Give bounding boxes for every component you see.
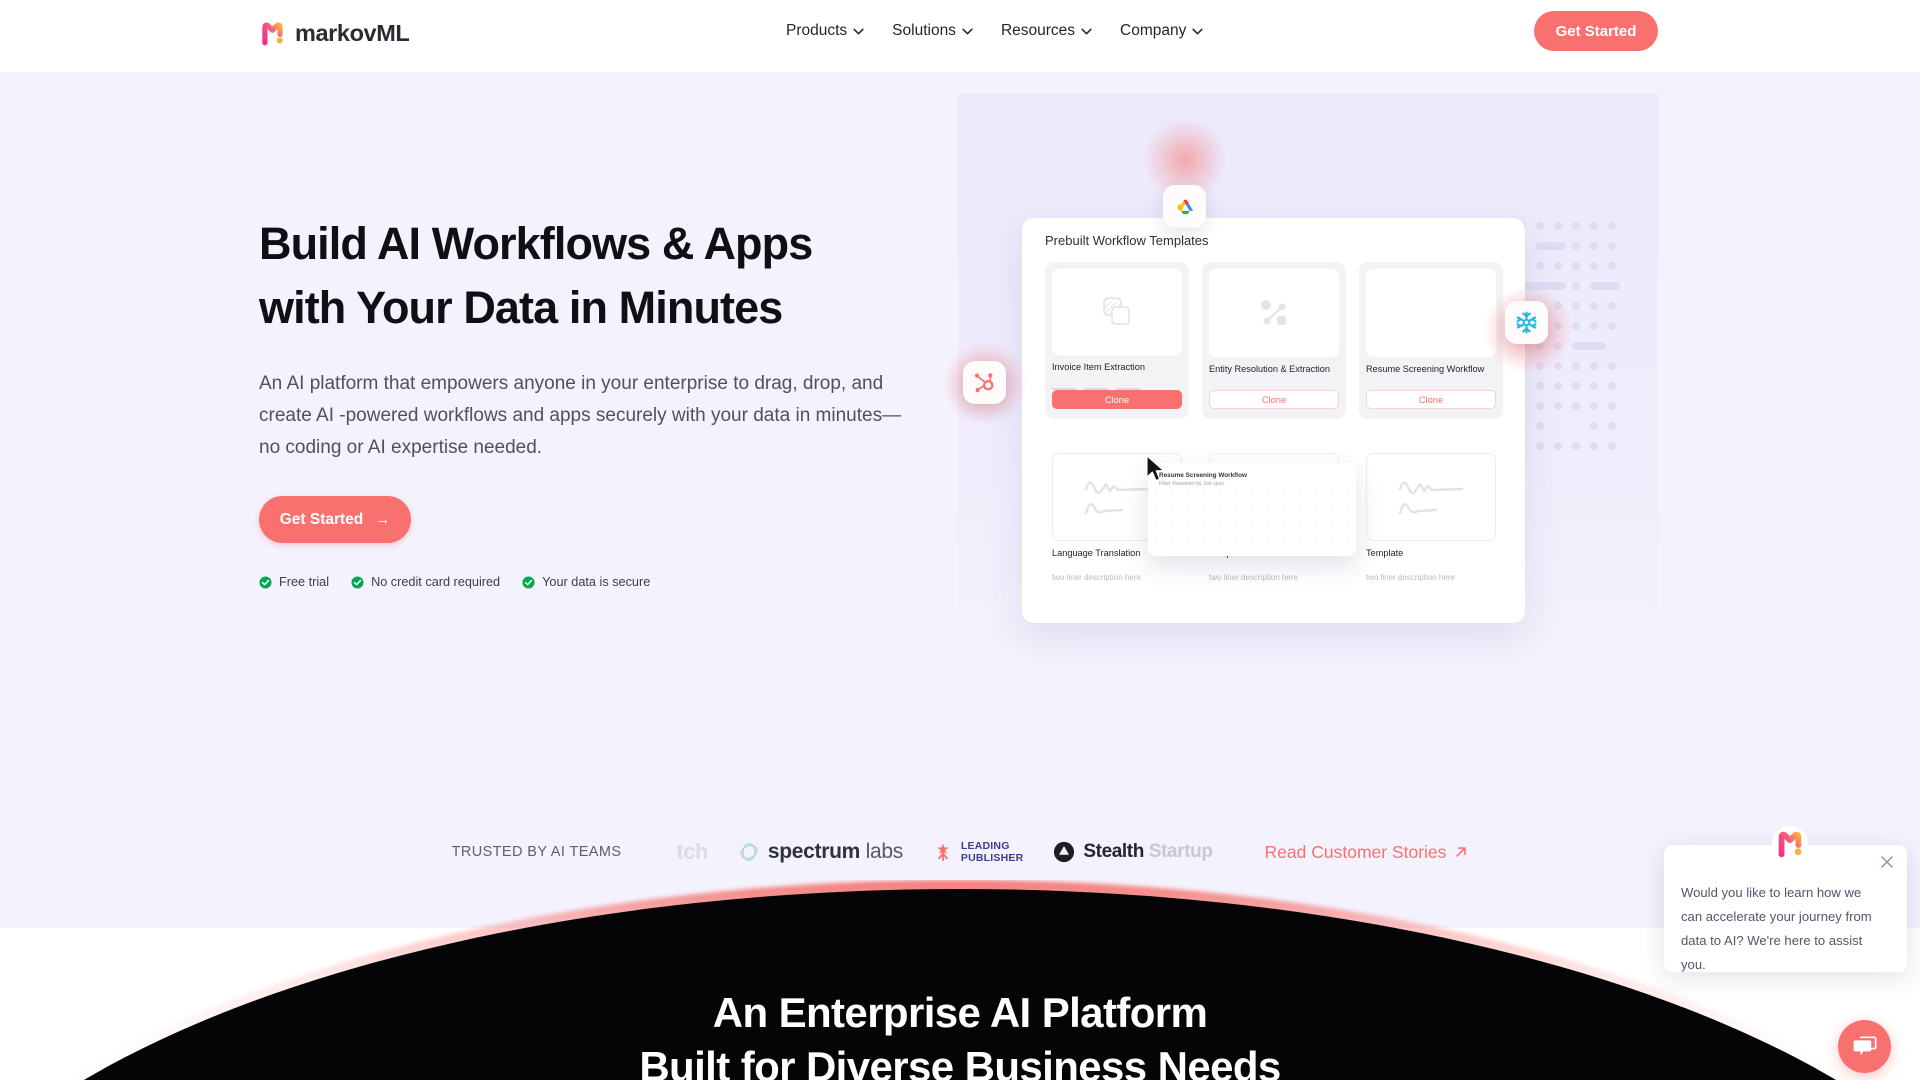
stealth-bold: Stealth xyxy=(1083,841,1144,862)
spectrum-labs-logo: spectrum labs xyxy=(738,840,903,864)
clone-button[interactable]: Clone xyxy=(1052,390,1182,409)
hero-product-artwork: Prebuilt Workflow Templates Invoice Item… xyxy=(958,93,1658,663)
hubspot-icon-chip xyxy=(963,361,1006,404)
template-card[interactable]: Template two liner description here xyxy=(1359,446,1503,603)
nav-item-solutions[interactable]: Solutions xyxy=(892,22,973,40)
brand-name: markovML xyxy=(295,20,409,47)
chevron-down-icon xyxy=(1081,28,1092,35)
page-root: markovML Products Solutions Resources xyxy=(0,0,1920,1080)
resume-workflow-overlay-card: Resume Screening Workflow Filter Resumes… xyxy=(1148,463,1356,556)
google-cloud-icon-chip xyxy=(1163,185,1206,228)
hero-get-started-button[interactable]: Get Started → xyxy=(259,496,411,543)
badge-free-trial: Free trial xyxy=(259,575,329,589)
entity-graph-icon xyxy=(1258,297,1290,329)
chevron-down-icon xyxy=(1192,28,1203,35)
partial-logo: tch xyxy=(676,839,708,865)
stealth-startup-logo: Stealth Startup xyxy=(1053,841,1212,863)
stealth-startup-text: Stealth Startup xyxy=(1083,841,1212,863)
spectrum-light: labs xyxy=(866,840,903,863)
arrow-up-right-icon xyxy=(1454,845,1468,859)
chat-message-text: Would you like to learn how we can accel… xyxy=(1681,881,1879,977)
markovml-logo-icon xyxy=(259,20,286,47)
overlay-card-title: Resume Screening Workflow xyxy=(1159,472,1345,479)
section-title: An Enterprise AI Platform Built for Dive… xyxy=(0,986,1920,1080)
nav-item-company[interactable]: Company xyxy=(1120,22,1203,40)
leading-publisher-logo: LEADINGPUBLISHER xyxy=(933,840,1023,864)
nav-label: Solutions xyxy=(892,22,956,40)
chat-bubble-icon xyxy=(1851,1033,1878,1060)
markovml-avatar-icon xyxy=(1775,829,1805,859)
template-name: Template xyxy=(1366,548,1496,571)
chevron-down-icon xyxy=(853,28,864,35)
hubspot-icon xyxy=(973,371,997,395)
nav-label: Products xyxy=(786,22,847,40)
clone-button[interactable]: Clone xyxy=(1366,390,1496,409)
snowflake-icon xyxy=(1514,310,1539,335)
section-title-line-1: An Enterprise AI Platform xyxy=(713,989,1208,1036)
check-circle-icon xyxy=(351,576,364,589)
panel-title: Prebuilt Workflow Templates xyxy=(1045,233,1209,248)
hero-section: Build AI Workflows & Apps with Your Data… xyxy=(0,72,1920,928)
nav-label: Resources xyxy=(1001,22,1075,40)
star-person-icon xyxy=(933,841,953,863)
sparkline-icon xyxy=(1080,471,1154,523)
template-card[interactable]: Entity Resolution & Extraction Clone xyxy=(1202,262,1346,419)
partial-logo-text: tch xyxy=(676,839,708,865)
main-navigation: Products Solutions Resources Company xyxy=(786,22,1203,40)
template-description: two liner description here xyxy=(1052,573,1182,583)
template-grid-row-1: Invoice Item Extraction Clone xyxy=(1045,262,1503,419)
badge-label: Your data is secure xyxy=(542,575,650,589)
hero-title-line-2: with Your Data in Minutes xyxy=(259,282,782,333)
stealth-light: Startup xyxy=(1149,841,1213,862)
section-title-line-2: Built for Diverse Business Needs xyxy=(639,1043,1280,1080)
workflow-templates-panel: Prebuilt Workflow Templates Invoice Item… xyxy=(1022,218,1525,623)
spectrum-bold: spectrum xyxy=(768,840,860,863)
badge-data-secure: Your data is secure xyxy=(522,575,650,589)
read-link-label: Read Customer Stories xyxy=(1265,842,1447,863)
clone-button[interactable]: Clone xyxy=(1209,390,1339,409)
spectrum-mark-icon xyxy=(738,841,760,863)
template-description: two liner description here xyxy=(1209,573,1339,583)
leading-publisher-text: LEADINGPUBLISHER xyxy=(961,840,1023,864)
mouse-cursor-icon xyxy=(1145,455,1167,483)
chat-message-card: Would you like to learn how we can accel… xyxy=(1664,845,1907,972)
hero-cta-label: Get Started xyxy=(280,511,364,529)
hero-trust-badges: Free trial No credit card required Your … xyxy=(259,575,919,589)
snowflake-icon-chip xyxy=(1505,301,1548,344)
hero-subtitle: An AI platform that empowers anyone in y… xyxy=(259,368,904,464)
chevron-down-icon xyxy=(962,28,973,35)
template-name: Invoice Item Extraction xyxy=(1052,362,1182,385)
stealth-mark-icon xyxy=(1053,841,1075,863)
enterprise-platform-section: An Enterprise AI Platform Built for Dive… xyxy=(0,880,1920,1080)
check-circle-icon xyxy=(522,576,535,589)
leading-line-1: LEADING xyxy=(961,840,1010,852)
nav-label: Company xyxy=(1120,22,1186,40)
hero-title: Build AI Workflows & Apps with Your Data… xyxy=(259,212,919,340)
nav-item-resources[interactable]: Resources xyxy=(1001,22,1092,40)
check-circle-icon xyxy=(259,576,272,589)
site-header: markovML Products Solutions Resources xyxy=(0,0,1920,72)
spectrum-labs-text: spectrum labs xyxy=(768,840,903,864)
badge-label: No credit card required xyxy=(371,575,500,589)
template-name: Entity Resolution & Extraction xyxy=(1209,364,1339,387)
template-thumbnail xyxy=(1052,269,1182,355)
template-description: two liner description here xyxy=(1366,573,1496,583)
chat-avatar xyxy=(1772,826,1808,862)
hero-copy: Build AI Workflows & Apps with Your Data… xyxy=(259,212,919,589)
read-customer-stories-link[interactable]: Read Customer Stories xyxy=(1265,842,1469,863)
template-thumbnail xyxy=(1366,453,1496,541)
sparkline-icon xyxy=(1394,471,1468,523)
arrow-right-icon: → xyxy=(375,512,390,527)
hero-title-line-1: Build AI Workflows & Apps xyxy=(259,218,812,269)
template-name: Resume Screening Workflow xyxy=(1366,364,1496,387)
badge-label: Free trial xyxy=(279,575,329,589)
trusted-by-strip: TRUSTED BY AI TEAMS tch spectrum labs LE… xyxy=(0,832,1920,872)
header-get-started-button[interactable]: Get Started xyxy=(1534,11,1658,51)
badge-no-credit-card: No credit card required xyxy=(351,575,500,589)
nav-item-products[interactable]: Products xyxy=(786,22,864,40)
google-cloud-icon xyxy=(1172,194,1198,220)
chat-launcher-button[interactable] xyxy=(1838,1020,1891,1073)
template-card[interactable]: Invoice Item Extraction Clone xyxy=(1045,262,1189,419)
trusted-by-label: TRUSTED BY AI TEAMS xyxy=(452,844,622,860)
template-thumbnail xyxy=(1209,269,1339,357)
close-icon[interactable] xyxy=(1879,854,1895,870)
brand-logo[interactable]: markovML xyxy=(259,20,409,47)
overlay-dot-grid xyxy=(1148,487,1356,556)
template-thumbnail xyxy=(1366,269,1496,357)
leading-line-2: PUBLISHER xyxy=(961,852,1023,864)
documents-icon xyxy=(1100,295,1134,329)
